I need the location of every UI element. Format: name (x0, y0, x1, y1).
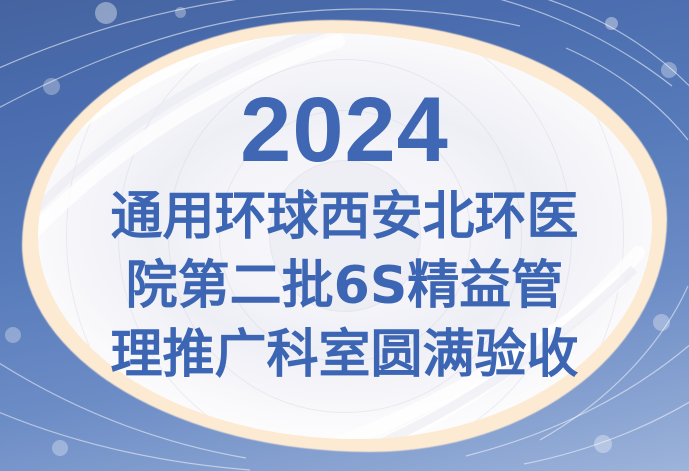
bubble-dot-9 (594, 435, 612, 453)
poster-headline: 通用环球西安北环医 院第二批6S精益管 理推广科室圆满验收 (0, 183, 689, 390)
headline-line-2: 院第二批6S精益管 (0, 252, 689, 321)
bubble-dot-3 (175, 7, 186, 18)
poster-year: 2024 (0, 88, 689, 173)
bubble-dot-7 (52, 440, 68, 456)
bubble-dot-1 (95, 2, 117, 24)
poster-canvas: 2024 通用环球西安北环医 院第二批6S精益管 理推广科室圆满验收 (0, 0, 689, 471)
bubble-dot-4 (605, 17, 618, 30)
headline-line-1: 通用环球西安北环医 (0, 183, 689, 252)
bubble-dot-5 (661, 62, 677, 78)
headline-line-3: 理推广科室圆满验收 (0, 321, 689, 390)
poster-text-block: 2024 通用环球西安北环医 院第二批6S精益管 理推广科室圆满验收 (0, 88, 689, 390)
